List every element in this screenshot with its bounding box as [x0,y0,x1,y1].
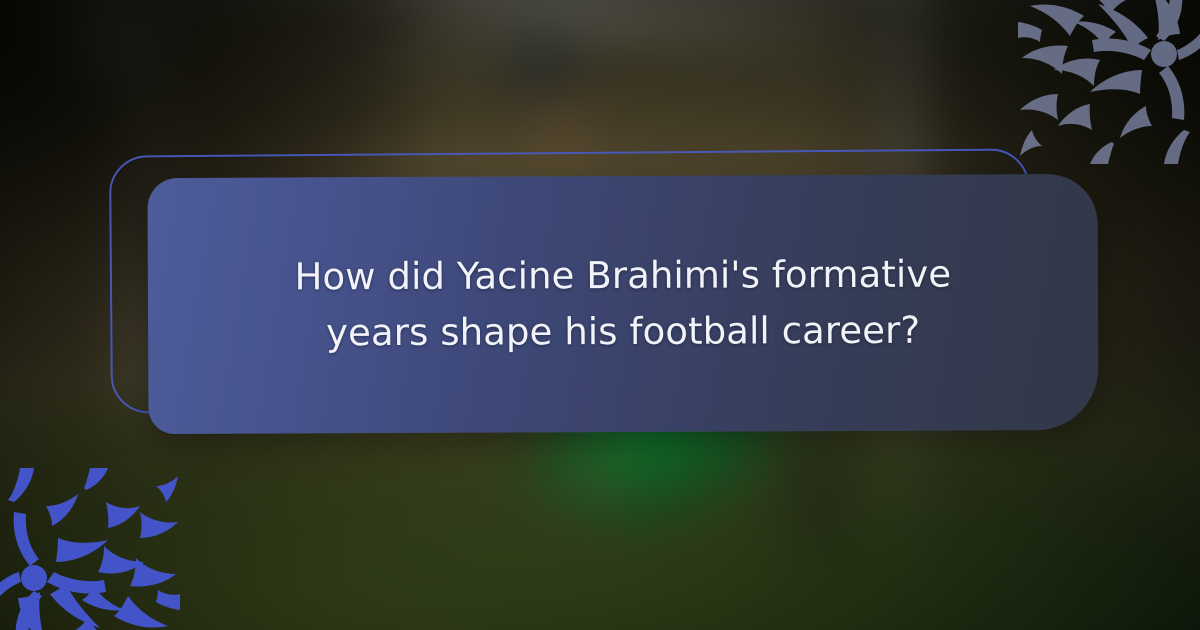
question-card: How did Yacine Brahimi's formative years… [147,174,1098,434]
question-text: How did Yacine Brahimi's formative years… [258,246,988,362]
question-card-page: How did Yacine Brahimi's formative years… [0,0,1200,630]
